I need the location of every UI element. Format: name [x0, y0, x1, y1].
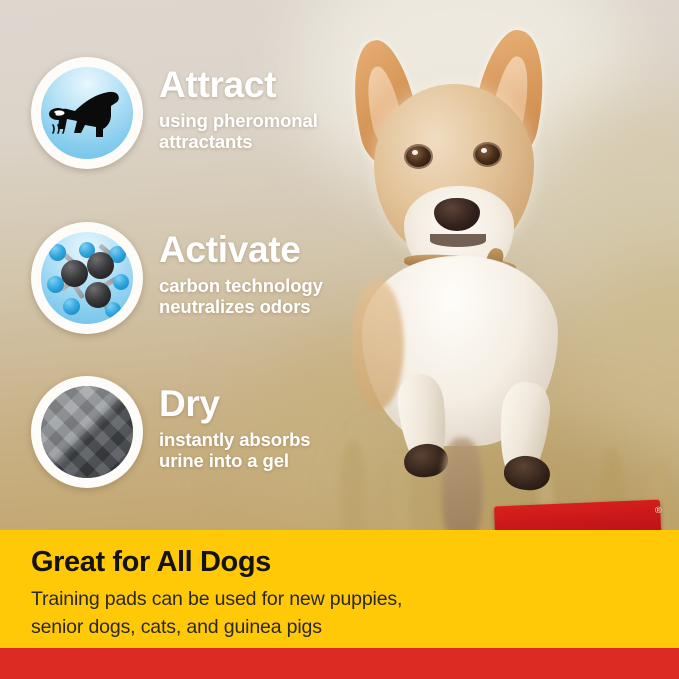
- hydrogen-atom: [63, 298, 80, 315]
- attract-subtitle: using pheromonal attractants: [159, 110, 318, 153]
- dog-sniffing-glyph: [41, 67, 133, 159]
- banner-body-line1: Training pads can be used for new puppie…: [31, 588, 402, 610]
- activate-title: Activate: [159, 232, 323, 268]
- dry-subtitle-line1: instantly absorbs: [159, 429, 310, 450]
- dog-front-right-paw: [502, 454, 551, 493]
- dog-sniffing-icon: [41, 67, 133, 159]
- activate-badge: [31, 222, 143, 334]
- banner-body-text: Training pads can be used for new puppie…: [31, 586, 402, 641]
- feature-item-dry: Dry instantly absorbs urine into a gel: [31, 376, 310, 488]
- dog-shoulder: [352, 280, 404, 410]
- feature-item-activate: Activate carbon technology neutralizes o…: [31, 222, 323, 334]
- activate-subtitle-line2: neutralizes odors: [159, 296, 310, 317]
- attract-title: Attract: [159, 67, 318, 103]
- registered-trademark-symbol: ®: [655, 505, 662, 515]
- carbon-atom: [61, 260, 88, 287]
- activate-subtitle-line1: carbon technology: [159, 275, 323, 296]
- banner-headline: Great for All Dogs: [31, 546, 271, 579]
- attract-subtitle-line2: attractants: [159, 131, 253, 152]
- dog-photo-subject: [318, 18, 648, 530]
- carbon-atom: [87, 252, 114, 279]
- attract-badge: [31, 57, 143, 169]
- banner-body-line2: senior dogs, cats, and guinea pigs: [31, 616, 322, 638]
- dry-title: Dry: [159, 386, 310, 422]
- quilted-pad-texture-icon: [41, 386, 133, 478]
- bottom-red-strip: [0, 648, 679, 679]
- dry-subtitle-line2: urine into a gel: [159, 450, 289, 471]
- hydrogen-atom: [105, 302, 121, 318]
- activate-text-block: Activate carbon technology neutralizes o…: [159, 222, 323, 318]
- dog-mouth: [430, 234, 486, 247]
- dog-right-eye: [475, 144, 500, 165]
- quilt-pattern: [41, 386, 133, 478]
- dog-left-eye: [406, 146, 431, 167]
- dry-text-block: Dry instantly absorbs urine into a gel: [159, 376, 310, 472]
- activate-subtitle: carbon technology neutralizes odors: [159, 275, 323, 318]
- carbon-atom: [85, 282, 111, 308]
- dry-subtitle: instantly absorbs urine into a gel: [159, 429, 310, 472]
- attract-text-block: Attract using pheromonal attractants: [159, 57, 318, 153]
- attract-subtitle-line1: using pheromonal: [159, 110, 318, 131]
- feature-item-attract: Attract using pheromonal attractants: [31, 57, 318, 169]
- dry-badge: [31, 376, 143, 488]
- bottom-yellow-banner: Great for All Dogs Training pads can be …: [0, 530, 679, 648]
- hydrogen-atom: [113, 274, 129, 290]
- dog-hind-leg: [442, 438, 482, 543]
- product-feature-poster: Attract using pheromonal attractants: [0, 0, 679, 679]
- carbon-molecule-icon: [41, 232, 133, 324]
- hydrogen-atom: [49, 244, 66, 261]
